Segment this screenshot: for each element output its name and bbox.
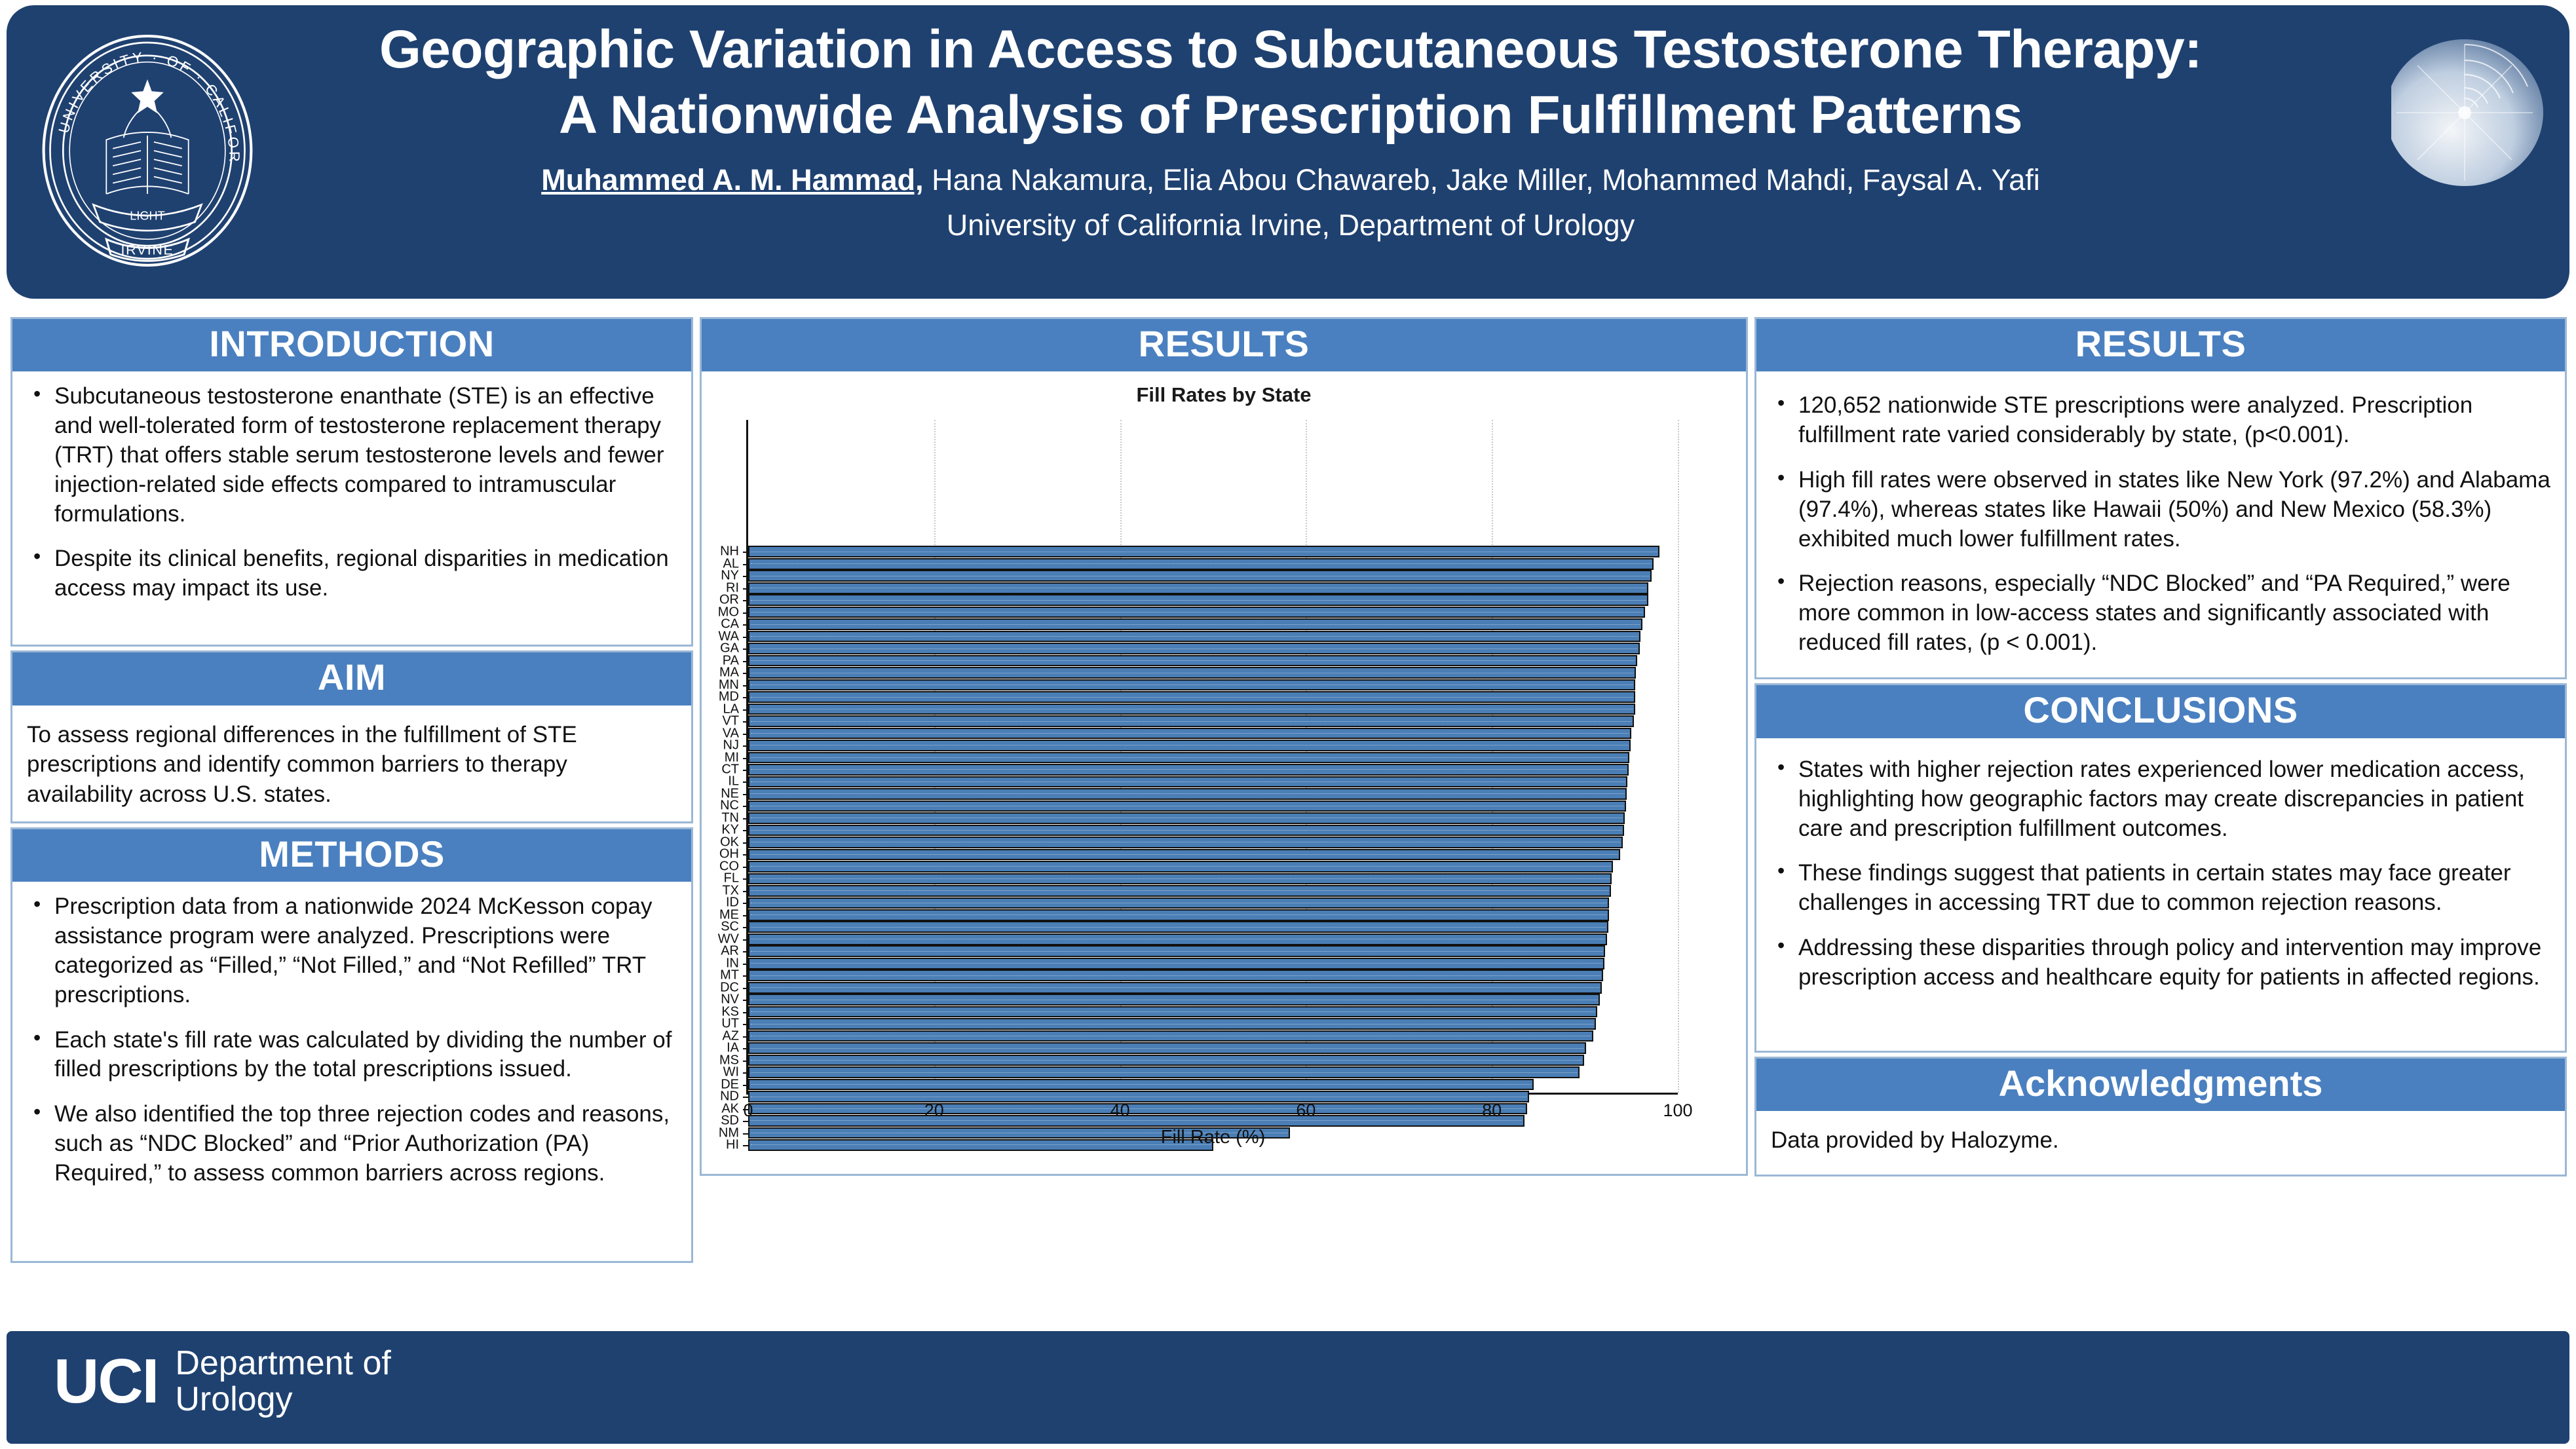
chart-y-tick bbox=[743, 1133, 748, 1135]
list-item: Subcutaneous testosterone enanthate (STE… bbox=[27, 382, 677, 529]
chart-bar bbox=[748, 994, 1600, 1006]
chart-bar-row: WI bbox=[748, 1066, 1678, 1078]
chart-bar-row: IA bbox=[748, 1042, 1678, 1054]
chart-bar-row: KS bbox=[748, 1006, 1678, 1018]
chart-bar bbox=[748, 825, 1624, 837]
nautilus-shell-icon bbox=[2391, 9, 2563, 187]
chart-y-tick bbox=[743, 1024, 748, 1025]
center-column: RESULTS Fill Rates by State NHALNYRIORMO… bbox=[700, 317, 1748, 1176]
chart-bar-row: NJ bbox=[748, 740, 1678, 751]
chart-y-tick bbox=[743, 1048, 748, 1049]
chart-bar bbox=[748, 1091, 1529, 1102]
chart-bar-row: NY bbox=[748, 570, 1678, 582]
chart-bar-row: NV bbox=[748, 994, 1678, 1006]
department-line-2: Urology bbox=[175, 1382, 391, 1418]
uc-irvine-seal-icon: LIGHT IRVINE UNIVERSITY · OF · CALIFORNI… bbox=[39, 29, 256, 273]
chart-y-tick bbox=[743, 564, 748, 565]
panel-results-chart: RESULTS Fill Rates by State NHALNYRIORMO… bbox=[700, 317, 1748, 1176]
chart-bar bbox=[748, 982, 1602, 994]
chart-bar bbox=[748, 958, 1604, 969]
left-column: INTRODUCTION Subcutaneous testosterone e… bbox=[10, 317, 693, 1263]
list-item: Each state's fill rate was calculated by… bbox=[27, 1026, 677, 1085]
chart-bar-row: CA bbox=[748, 618, 1678, 630]
chart-y-tick bbox=[743, 709, 748, 711]
list-item: Rejection reasons, especially “NDC Block… bbox=[1771, 569, 2550, 657]
chart-bar-row: MN bbox=[748, 679, 1678, 691]
chart-bar-row: WA bbox=[748, 631, 1678, 643]
chart-bar bbox=[748, 873, 1612, 885]
chart-y-tick bbox=[743, 781, 748, 783]
chart-bar bbox=[748, 1006, 1597, 1018]
chart-bar-row: OK bbox=[748, 837, 1678, 848]
chart-bar bbox=[748, 1115, 1525, 1127]
chart-y-tick bbox=[743, 770, 748, 771]
svg-text:IRVINE: IRVINE bbox=[121, 242, 174, 257]
chart-y-tick bbox=[743, 818, 748, 819]
chart-bar bbox=[748, 704, 1635, 715]
chart-bar bbox=[748, 752, 1629, 764]
chart-bar bbox=[748, 885, 1611, 897]
introduction-body: Subcutaneous testosterone enanthate (STE… bbox=[10, 371, 693, 647]
chart-bar bbox=[748, 1055, 1584, 1066]
department-line-1: Department of bbox=[175, 1345, 391, 1382]
chart-bar bbox=[748, 800, 1626, 812]
chart-y-tick bbox=[743, 649, 748, 650]
chart-bar-row: ND bbox=[748, 1091, 1678, 1102]
chart-y-tick bbox=[743, 673, 748, 674]
list-item: We also identified the top three rejecti… bbox=[27, 1100, 677, 1188]
chart-bar bbox=[748, 728, 1631, 740]
right-column: RESULTS 120,652 nationwide STE prescript… bbox=[1754, 317, 2567, 1176]
chart-y-tick bbox=[743, 794, 748, 795]
chart-y-tick bbox=[743, 734, 748, 735]
chart-bar bbox=[748, 764, 1629, 776]
chart-bar-row: TN bbox=[748, 812, 1678, 824]
chart-bar-row: IN bbox=[748, 958, 1678, 969]
chart-bar-row: CT bbox=[748, 764, 1678, 776]
results-bullets: 120,652 nationwide STE prescriptions wer… bbox=[1771, 391, 2550, 657]
chart-y-tick bbox=[743, 697, 748, 698]
chart-bar-row: ME bbox=[748, 909, 1678, 921]
panel-conclusions: CONCLUSIONS States with higher rejection… bbox=[1754, 683, 2567, 1052]
acknowledgments-heading: Acknowledgments bbox=[1754, 1057, 2567, 1111]
chart-bar bbox=[748, 558, 1654, 570]
chart-y-tick bbox=[743, 600, 748, 601]
results-text-heading: RESULTS bbox=[1754, 317, 2567, 371]
panel-acknowledgments: Acknowledgments Data provided by Halozym… bbox=[1754, 1057, 2567, 1176]
chart-bar-row: WV bbox=[748, 933, 1678, 945]
chart-title: Fill Rates by State bbox=[702, 383, 1746, 407]
chart-bar-row: IL bbox=[748, 776, 1678, 788]
chart-bar bbox=[748, 582, 1648, 594]
chart-bar bbox=[748, 667, 1636, 679]
chart-y-tick bbox=[743, 867, 748, 868]
list-item: Despite its clinical benefits, regional … bbox=[27, 544, 677, 603]
chart-y-tick bbox=[743, 588, 748, 590]
chart-y-tick bbox=[743, 806, 748, 807]
chart-bar-row: MT bbox=[748, 969, 1678, 981]
chart-x-tick-label: 80 bbox=[1482, 1101, 1502, 1121]
chart-bar bbox=[748, 631, 1640, 643]
chart-y-tick bbox=[743, 685, 748, 687]
conference-poster: LIGHT IRVINE UNIVERSITY · OF · CALIFORNI… bbox=[0, 0, 2576, 1449]
chart-y-tick bbox=[743, 1000, 748, 1001]
chart-bar-row: UT bbox=[748, 1018, 1678, 1030]
chart-y-tick bbox=[743, 1012, 748, 1013]
chart-x-axis-label: Fill Rate (%) bbox=[748, 1127, 1678, 1148]
chart-bar bbox=[748, 1042, 1586, 1054]
chart-y-tick bbox=[743, 1085, 748, 1086]
chart-bar bbox=[748, 921, 1608, 933]
chart-bar-row: MA bbox=[748, 667, 1678, 679]
list-item: Prescription data from a nationwide 2024… bbox=[27, 892, 677, 1009]
poster-header: LIGHT IRVINE UNIVERSITY · OF · CALIFORNI… bbox=[7, 5, 2569, 299]
chart-bar-row: PA bbox=[748, 655, 1678, 667]
chart-bar-row: SC bbox=[748, 921, 1678, 933]
co-authors: Hana Nakamura, Elia Abou Chawareb, Jake … bbox=[924, 163, 2040, 197]
chart-y-tick bbox=[743, 745, 748, 747]
chart-y-tick bbox=[743, 878, 748, 880]
chart-bar-row: MS bbox=[748, 1055, 1678, 1066]
conclusions-body: States with higher rejection rates exper… bbox=[1754, 738, 2567, 1053]
chart-bar-row: DC bbox=[748, 982, 1678, 994]
aim-heading: AIM bbox=[10, 650, 693, 705]
uci-wordmark: UCI bbox=[54, 1350, 158, 1413]
chart-bar bbox=[748, 1066, 1580, 1078]
poster-title-line1: Geographic Variation in Access to Subcut… bbox=[269, 17, 2313, 83]
chart-y-tick bbox=[743, 1097, 748, 1098]
chart-y-tick bbox=[743, 939, 748, 941]
chart-y-tick bbox=[743, 854, 748, 856]
chart-y-tick bbox=[743, 1072, 748, 1074]
chart-bar-row: FL bbox=[748, 873, 1678, 885]
acknowledgments-body: Data provided by Halozyme. bbox=[1754, 1111, 2567, 1176]
chart-bar bbox=[748, 643, 1640, 654]
introduction-heading: INTRODUCTION bbox=[10, 317, 693, 371]
introduction-bullets: Subcutaneous testosterone enanthate (STE… bbox=[27, 382, 677, 603]
chart-y-tick bbox=[743, 842, 748, 844]
chart-bar bbox=[748, 546, 1659, 557]
chart-bar-row: NC bbox=[748, 800, 1678, 812]
list-item: These findings suggest that patients in … bbox=[1771, 859, 2550, 918]
chart-y-tick bbox=[743, 612, 748, 614]
chart-bar bbox=[748, 861, 1613, 873]
chart-bar-row: AL bbox=[748, 558, 1678, 570]
chart-bar bbox=[748, 933, 1607, 945]
chart-bar-row: AZ bbox=[748, 1030, 1678, 1042]
chart-bar bbox=[748, 740, 1631, 751]
methods-body: Prescription data from a nationwide 2024… bbox=[10, 882, 693, 1263]
chart-y-tick bbox=[743, 975, 748, 977]
poster-title-line2: A Nationwide Analysis of Prescription Fu… bbox=[269, 83, 2313, 148]
chart-bar-row: KY bbox=[748, 825, 1678, 837]
chart-y-tick bbox=[743, 758, 748, 759]
chart-bar-row: DE bbox=[748, 1079, 1678, 1091]
list-item: Addressing these disparities through pol… bbox=[1771, 933, 2550, 992]
conclusions-heading: CONCLUSIONS bbox=[1754, 683, 2567, 738]
poster-footer: UCI Department of Urology bbox=[7, 1331, 2569, 1444]
results-chart-body: Fill Rates by State NHALNYRIORMOCAWAGAPA… bbox=[700, 371, 1748, 1176]
panel-methods: METHODS Prescription data from a nationw… bbox=[10, 827, 693, 1263]
acknowledgments-text: Data provided by Halozyme. bbox=[1771, 1125, 2550, 1156]
chart-bar-row: TX bbox=[748, 885, 1678, 897]
methods-heading: METHODS bbox=[10, 827, 693, 882]
panel-introduction: INTRODUCTION Subcutaneous testosterone e… bbox=[10, 317, 693, 647]
conclusions-bullets: States with higher rejection rates exper… bbox=[1771, 755, 2550, 992]
chart-bar-row: MO bbox=[748, 607, 1678, 618]
header-text-block: Geographic Variation in Access to Subcut… bbox=[269, 17, 2313, 242]
chart-bar bbox=[748, 969, 1603, 981]
chart-bar-row: RI bbox=[748, 582, 1678, 594]
svg-text:LIGHT: LIGHT bbox=[130, 210, 164, 223]
list-item: 120,652 nationwide STE prescriptions wer… bbox=[1771, 391, 2550, 450]
chart-y-tick bbox=[743, 988, 748, 989]
methods-bullets: Prescription data from a nationwide 2024… bbox=[27, 892, 677, 1188]
chart-bar bbox=[748, 788, 1627, 800]
affiliation: University of California Irvine, Departm… bbox=[269, 208, 2313, 242]
chart-y-tick bbox=[743, 637, 748, 638]
chart-y-tick bbox=[743, 915, 748, 916]
panel-aim: AIM To assess regional differences in th… bbox=[10, 650, 693, 823]
chart-bar bbox=[748, 618, 1642, 630]
chart-bar bbox=[748, 570, 1652, 582]
chart-y-tick bbox=[743, 964, 748, 965]
chart-bar-row: NE bbox=[748, 788, 1678, 800]
chart-x-tick-label: 40 bbox=[1110, 1101, 1130, 1121]
chart-bar-row: NH bbox=[748, 546, 1678, 557]
chart-x-tick-label: 100 bbox=[1663, 1101, 1692, 1121]
chart-bar bbox=[748, 594, 1648, 606]
chart-bar-row: AK bbox=[748, 1103, 1678, 1115]
chart-bar bbox=[748, 655, 1637, 667]
chart-y-tick bbox=[743, 951, 748, 952]
chart-bar-row: MD bbox=[748, 691, 1678, 703]
chart-y-tick bbox=[743, 903, 748, 904]
chart-bar bbox=[748, 607, 1645, 618]
chart-bar bbox=[748, 776, 1627, 788]
chart-bar-row: OR bbox=[748, 594, 1678, 606]
chart-y-tick bbox=[743, 1036, 748, 1038]
list-item: States with higher rejection rates exper… bbox=[1771, 755, 2550, 843]
chart-bar bbox=[748, 679, 1635, 691]
chart-y-tick bbox=[743, 830, 748, 831]
chart-bar-row: MI bbox=[748, 752, 1678, 764]
results-text-body: 120,652 nationwide STE prescriptions wer… bbox=[1754, 371, 2567, 679]
chart-x-tick-label: 20 bbox=[924, 1101, 944, 1121]
chart-x-tick-label: 60 bbox=[1296, 1101, 1316, 1121]
aim-body: To assess regional differences in the fu… bbox=[10, 706, 693, 823]
chart-bar bbox=[748, 849, 1620, 861]
chart-bar bbox=[748, 812, 1625, 824]
chart-y-tick bbox=[743, 576, 748, 577]
chart-bar bbox=[748, 1103, 1527, 1115]
chart-bar-row: AR bbox=[748, 945, 1678, 957]
chart-bar-row: LA bbox=[748, 704, 1678, 715]
department-name: Department of Urology bbox=[175, 1345, 391, 1418]
chart-bar bbox=[748, 715, 1634, 727]
chart-y-tick bbox=[743, 1061, 748, 1062]
chart-bar-row: VA bbox=[748, 728, 1678, 740]
chart-bar-row: ID bbox=[748, 897, 1678, 909]
chart-bar-row: GA bbox=[748, 643, 1678, 654]
chart-bar bbox=[748, 1030, 1593, 1042]
chart-bar bbox=[748, 837, 1623, 848]
chart-bar bbox=[748, 897, 1609, 909]
chart-y-tick bbox=[743, 721, 748, 723]
chart-bar bbox=[748, 691, 1635, 703]
results-chart-heading: RESULTS bbox=[700, 317, 1748, 371]
chart-y-tick bbox=[743, 552, 748, 553]
chart-bar bbox=[748, 1079, 1534, 1091]
chart-y-tick bbox=[743, 624, 748, 626]
chart-bar bbox=[748, 1018, 1596, 1030]
chart-y-tick bbox=[743, 927, 748, 928]
chart-bar bbox=[748, 909, 1609, 921]
chart-x-tick-label: 0 bbox=[743, 1101, 753, 1121]
panel-results-text: RESULTS 120,652 nationwide STE prescript… bbox=[1754, 317, 2567, 679]
chart-bars: NHALNYRIORMOCAWAGAPAMAMNMDLAVTVANJMICTIL… bbox=[748, 546, 1678, 1087]
chart-y-tick bbox=[743, 661, 748, 662]
chart-bar-row: CO bbox=[748, 861, 1678, 873]
aim-text: To assess regional differences in the fu… bbox=[27, 720, 677, 810]
chart-gridline bbox=[1678, 420, 1679, 1093]
fill-rates-bar-chart: Fill Rates by State NHALNYRIORMOCAWAGAPA… bbox=[702, 371, 1746, 1174]
list-item: High fill rates were observed in states … bbox=[1771, 466, 2550, 554]
first-author: Muhammed A. M. Hammad, bbox=[541, 163, 923, 197]
chart-y-tick bbox=[743, 1145, 748, 1146]
chart-bar-row: OH bbox=[748, 849, 1678, 861]
uci-department-logo: UCI Department of Urology bbox=[54, 1345, 391, 1418]
chart-bar bbox=[748, 945, 1605, 957]
chart-bar-row: VT bbox=[748, 715, 1678, 727]
chart-bar-row: SD bbox=[748, 1115, 1678, 1127]
chart-y-tick bbox=[743, 891, 748, 892]
author-list: Muhammed A. M. Hammad, Hana Nakamura, El… bbox=[269, 162, 2313, 198]
chart-y-tick-label: HI bbox=[726, 1138, 739, 1153]
chart-plot-area: NHALNYRIORMOCAWAGAPAMAMNMDLAVTVANJMICTIL… bbox=[746, 420, 1678, 1095]
